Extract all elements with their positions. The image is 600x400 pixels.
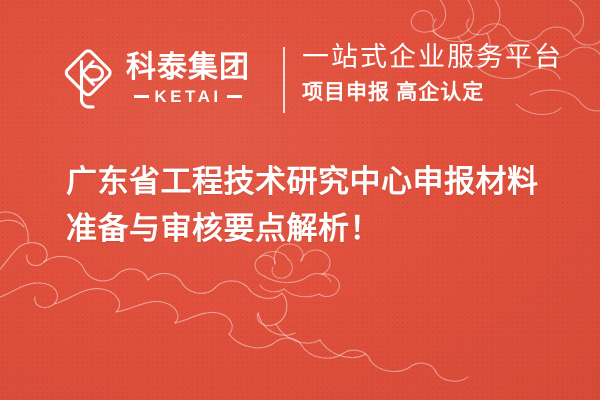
ketai-diamond-kt-monogram-icon [60, 45, 116, 113]
title-line-2: 准备与审核要点解析！ [66, 205, 571, 252]
brand-rule-left [134, 95, 149, 98]
slogan-block: 一站式企业服务平台 项目申报 高企认定 [302, 42, 563, 105]
brand-rule-right [227, 95, 242, 98]
slogan-sub: 项目申报 高企认定 [302, 80, 563, 105]
brand-name-cn: 科泰集团 [126, 53, 250, 84]
banner-header: 科泰集团 KETAI 一站式企业服务平台 项目申报 高企认定 [0, 0, 600, 140]
brand-name-en-row: KETAI [126, 88, 250, 105]
ketai-wordmark: 科泰集团 KETAI [126, 53, 250, 105]
slogan-main: 一站式企业服务平台 [302, 42, 563, 74]
brand-name-en: KETAI [154, 88, 221, 105]
ketai-logo[interactable]: 科泰集团 KETAI [60, 45, 250, 113]
promo-banner: 科泰集团 KETAI 一站式企业服务平台 项目申报 高企认定 广东省工程技术研究… [0, 0, 600, 400]
title-line-1: 广东省工程技术研究中心申报材料 [66, 158, 571, 205]
page-title: 广东省工程技术研究中心申报材料 准备与审核要点解析！ [66, 158, 571, 252]
vertical-divider [283, 47, 285, 113]
